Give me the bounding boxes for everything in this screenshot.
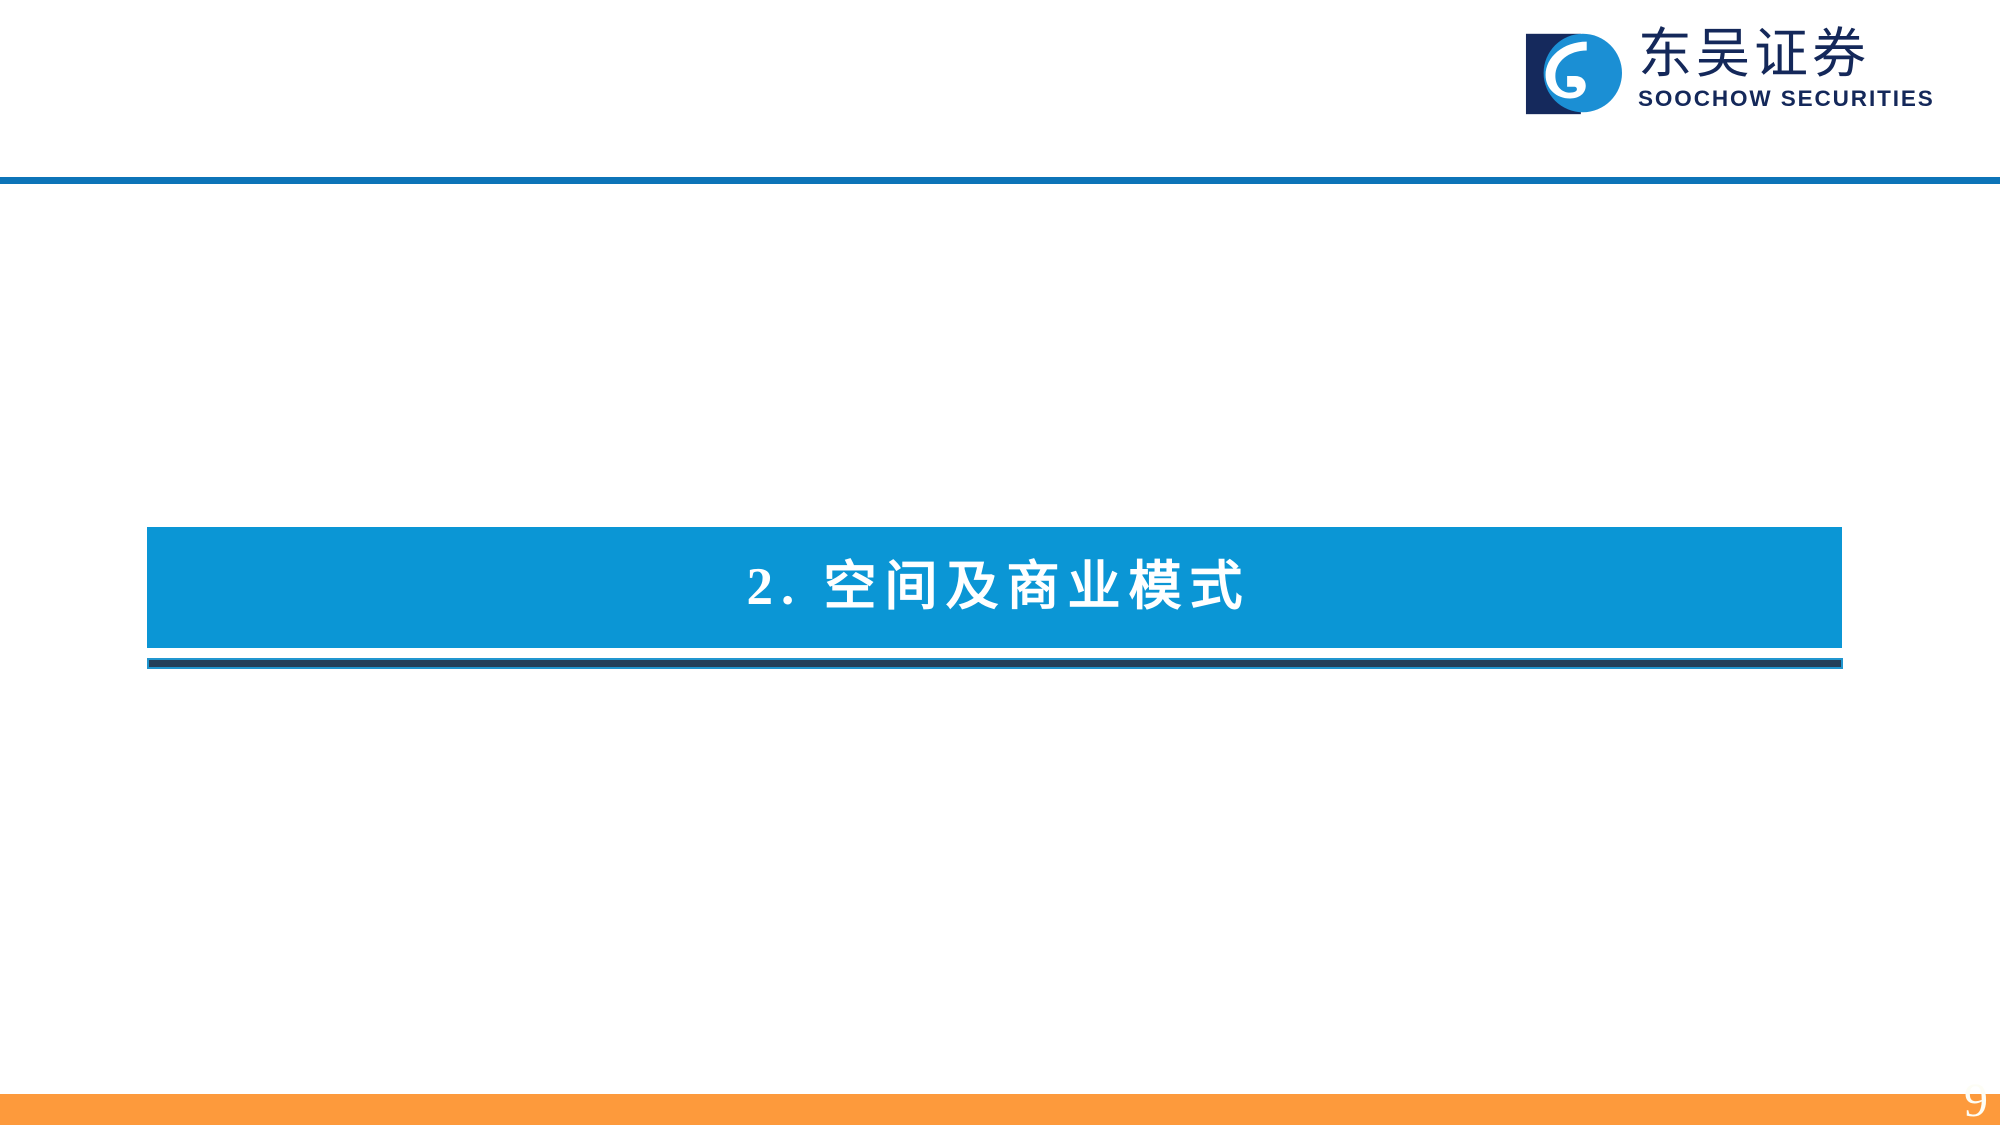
brand-wordmark: 东吴证券 SOOCHOW SECURITIES bbox=[1638, 24, 1935, 112]
soochow-securities-logo-mark-icon bbox=[1524, 24, 1622, 122]
brand-name-en: SOOCHOW SECURITIES bbox=[1638, 86, 1935, 112]
section-title: 2. 空间及商业模式 bbox=[739, 561, 1251, 614]
brand-logo: 东吴证券 SOOCHOW SECURITIES bbox=[1524, 24, 1886, 124]
slide-canvas: 东吴证券 SOOCHOW SECURITIES 2. 空间及商业模式 9 bbox=[0, 0, 2000, 1125]
section-banner-underline-core bbox=[149, 660, 1841, 667]
header-divider-rule bbox=[0, 177, 2000, 184]
brand-name-cn: 东吴证券 bbox=[1638, 26, 1935, 82]
page-number: 9 bbox=[1964, 1077, 1988, 1125]
section-banner-underline bbox=[147, 658, 1843, 669]
footer-bar bbox=[0, 1094, 2000, 1125]
section-banner: 2. 空间及商业模式 bbox=[147, 527, 1842, 648]
